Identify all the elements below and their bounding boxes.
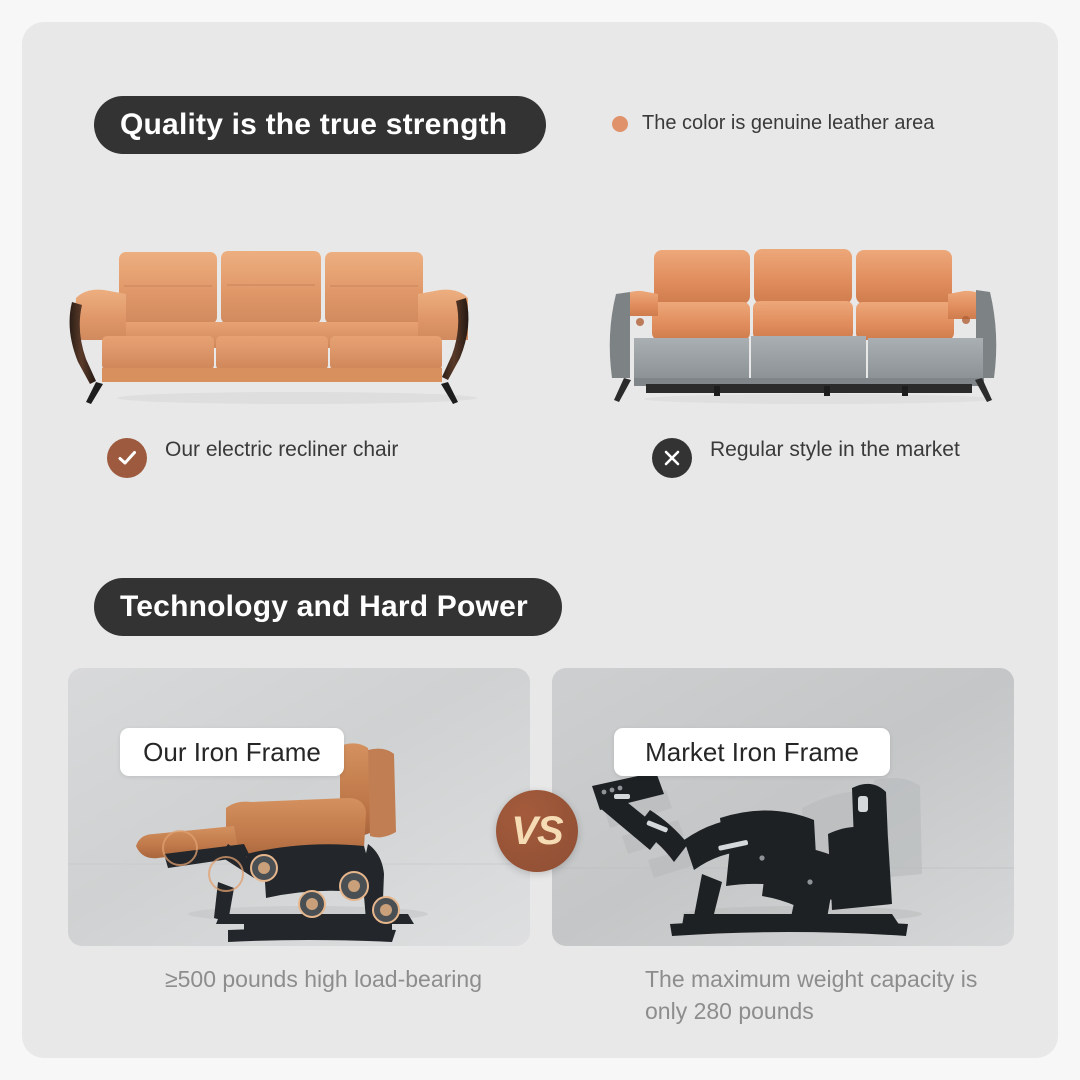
caption-market-label: Regular style in the market (710, 436, 960, 464)
pill-label-our-iron-frame: Our Iron Frame (120, 728, 344, 776)
frame-panel-market: Market Iron Frame (552, 668, 1014, 946)
check-icon (107, 438, 147, 478)
section-banner-quality: Quality is the true strength (94, 96, 546, 154)
section-banner-technology: Technology and Hard Power (94, 578, 562, 636)
x-icon (652, 438, 692, 478)
sofa-image-market (594, 236, 1044, 416)
sofa-image-ours (62, 236, 532, 416)
frame-panel-ours: Our Iron Frame (68, 668, 530, 946)
caption-ours-label: Our electric recliner chair (165, 436, 398, 464)
pill-label-market-iron-frame: Market Iron Frame (614, 728, 890, 776)
legend-dot-icon (612, 116, 628, 132)
caption-market: Regular style in the market (652, 436, 982, 478)
vs-badge: VS (496, 790, 578, 872)
frame-caption-market: The maximum weight capacity is only 280 … (645, 963, 1025, 1027)
infographic-page: Quality is the true strength The color i… (0, 0, 1080, 1080)
frame-caption-ours: ≥500 pounds high load-bearing (165, 963, 495, 995)
caption-ours: Our electric recliner chair (107, 436, 437, 478)
vs-label: VS (511, 811, 562, 851)
legend-genuine-leather: The color is genuine leather area (612, 112, 934, 135)
legend-label: The color is genuine leather area (642, 112, 934, 135)
